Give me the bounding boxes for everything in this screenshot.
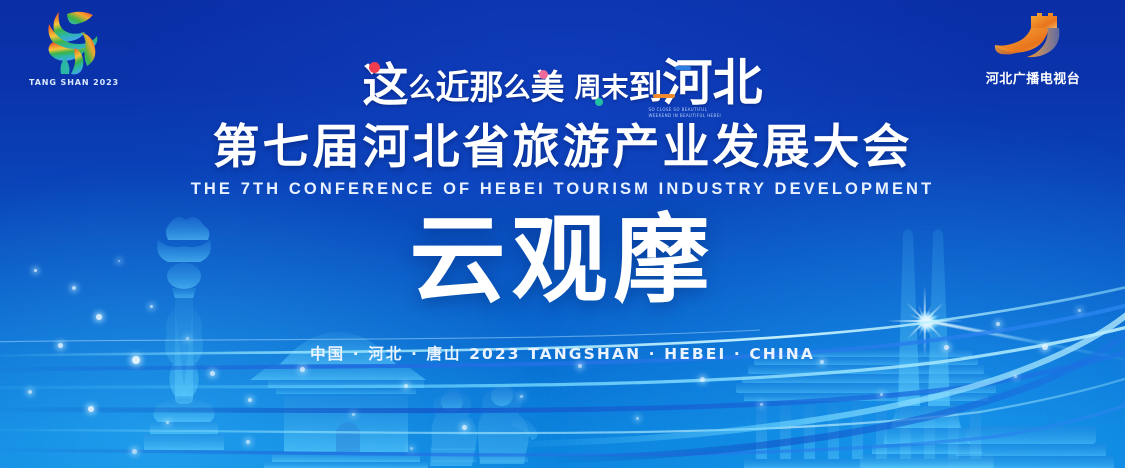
slogan-dot-pink <box>539 70 548 79</box>
conference-banner: TANG SHAN 2023 <box>0 0 1125 468</box>
clay-figurine-pair <box>430 384 537 466</box>
campaign-slogan: 这 么 近 那 么 美 周 末 到 河北 SO CLOSE SO BEAUTIF… <box>0 52 1125 114</box>
slogan-dot-red <box>369 62 380 73</box>
slogan-char-2: 么 <box>409 75 436 108</box>
slogan-char-9: 到 <box>629 71 663 108</box>
slogan-microtext: SO CLOSE SO BEAUTIFUL WEEKEND IN BEAUTIF… <box>649 107 722 119</box>
slogan-char-3: 近 <box>436 71 470 108</box>
hero-text: 云观摩 <box>0 212 1125 308</box>
slogan-microtext-line2: WEEKEND IN BEAUTIFUL HEBEI <box>649 113 722 118</box>
slogan-dot-teal <box>595 98 603 106</box>
slogan-microtext-line1: SO CLOSE SO BEAUTIFUL <box>649 107 708 112</box>
conference-title-english: THE 7TH CONFERENCE OF HEBEI TOURISM INDU… <box>0 180 1125 199</box>
slogan-char-8: 末 <box>602 75 629 108</box>
slogan-char-5: 么 <box>504 75 531 108</box>
podium-block <box>948 426 1114 468</box>
colonnaded-civic-building <box>736 350 996 468</box>
event-location-line: 中国 · 河北 · 唐山 2023 TANGSHAN · HEBEI · CHI… <box>0 342 1125 364</box>
conference-title-block: 第七届河北省旅游产业发展大会 THE 7TH CONFERENCE OF HEB… <box>0 122 1125 199</box>
lens-flare-star-icon <box>925 320 929 324</box>
conference-title-chinese: 第七届河北省旅游产业发展大会 <box>0 122 1125 174</box>
slogan-char-6: 美 <box>531 71 565 108</box>
slogan-dash-orange <box>653 94 675 98</box>
slogan-char-4: 那 <box>470 71 504 108</box>
hero-block: 云观摩 <box>0 212 1125 308</box>
slogan-dash-blue <box>675 66 691 70</box>
